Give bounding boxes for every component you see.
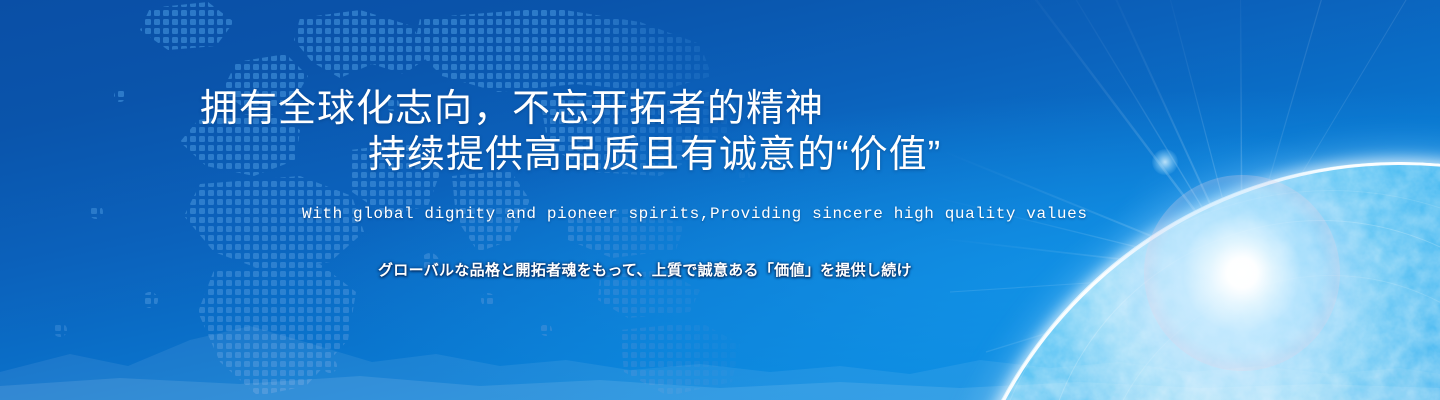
planet-globe bbox=[920, 70, 1440, 400]
dotted-world-map bbox=[0, 0, 780, 400]
planet-surface bbox=[948, 162, 1440, 400]
lens-flare-dot bbox=[1152, 149, 1178, 175]
planet-atmosphere-rim bbox=[948, 162, 1440, 400]
planet-texture bbox=[948, 162, 1440, 400]
hero-banner: 拥有全球化志向，不忘开拓者的精神 持续提供高品质且有诚意的“价值” With g… bbox=[0, 0, 1440, 400]
planet-arc-inner bbox=[1095, 275, 1440, 400]
planet-arc-middle bbox=[1040, 220, 1440, 400]
planet-arc-outer bbox=[980, 190, 1440, 400]
